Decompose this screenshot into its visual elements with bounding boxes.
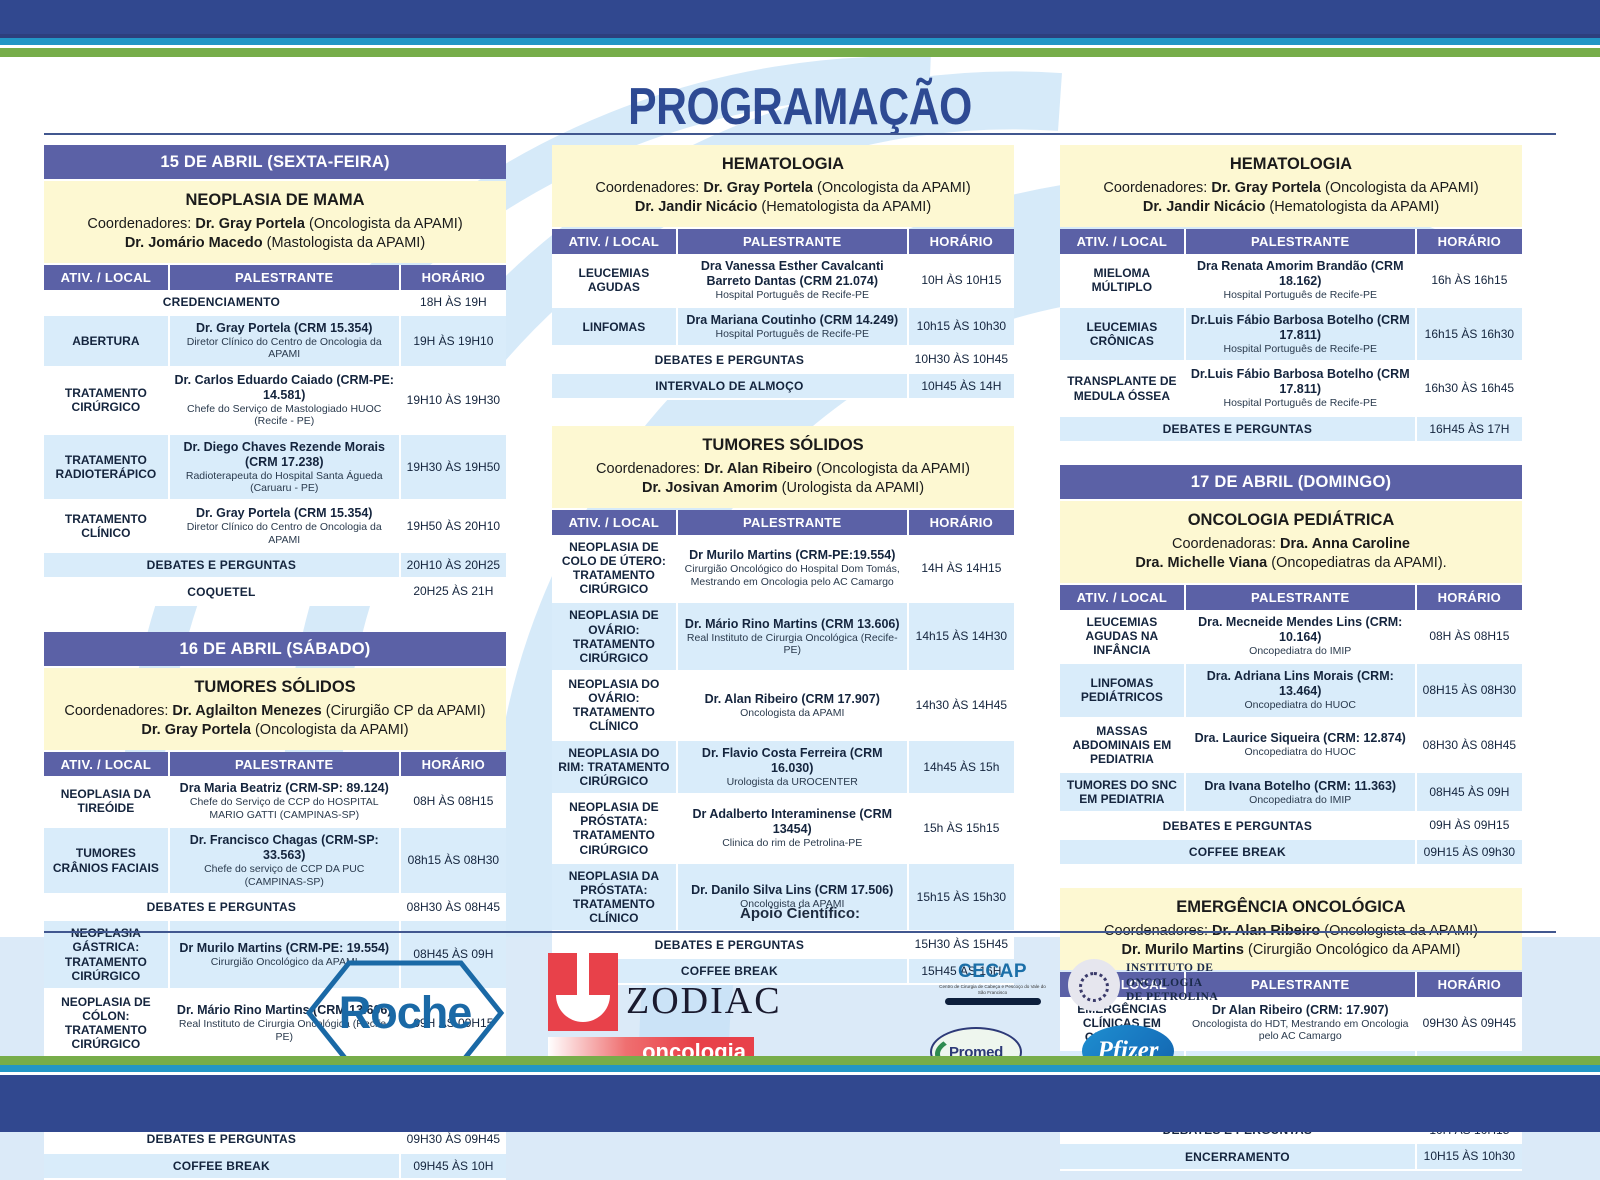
table-row: COFFEE BREAK09H45 ÀS 10H [44, 1153, 506, 1179]
speaker-name: Dr. Danilo Silva Lins (CRM 17.506) [682, 883, 903, 898]
coordinator-line-1: Coordenadores: Dr. Alan Ribeiro (Oncolog… [560, 460, 1006, 479]
table-row: DEBATES E PERGUNTAS09H ÀS 09H15 [1060, 812, 1522, 838]
coordinator-line-1: Coordenadores: Dr. Aglailton Menezes (Ci… [52, 702, 498, 721]
coordinator-role: (Hematologista da APAMI) [757, 199, 931, 215]
sponsor-roche-logo: Roche [305, 959, 505, 1067]
row-speaker: Dra Ivana Botelho (CRM: 11.363)Oncopedia… [1185, 772, 1416, 812]
speaker-affiliation: Chefe do serviço de CCP DA PUC (CAMPINAS… [174, 863, 395, 888]
row-activity: LINFOMAS [552, 307, 677, 346]
coordinator-name: Dr. Gray Portela [195, 216, 305, 232]
row-time: 10H45 ÀS 14H [908, 373, 1014, 399]
row-speaker: Dra Renata Amorim Brandão (CRM 18.162)Ho… [1185, 254, 1416, 307]
col-header-speaker: PALESTRANTE [1185, 229, 1416, 254]
brand-bar-green-bottom [0, 1056, 1600, 1065]
row-activity-full: INTERVALO DE ALMOÇO [552, 373, 908, 399]
row-time: 10H30 ÀS 10H45 [908, 346, 1014, 372]
block-apr17-pediatrica: 17 DE ABRIL (DOMINGO) ONCOLOGIA PEDIÁTRI… [1060, 465, 1522, 866]
col-header-speaker: PALESTRANTE [1185, 585, 1416, 610]
row-speaker: Dra. Adriana Lins Morais (CRM: 13.464)On… [1185, 663, 1416, 717]
row-time: 16h30 ÀS 16h45 [1416, 361, 1522, 415]
coordinator-line-2: Dr. Jandir Nicácio (Hematologista da APA… [560, 198, 1006, 217]
row-activity: TRATAMENTO RADIOTERÁPICO [44, 434, 169, 501]
table-header-row: ATIV. / LOCAL PALESTRANTE HORÁRIO [552, 229, 1014, 254]
table-row: TRATAMENTO RADIOTERÁPICODr. Diego Chaves… [44, 434, 506, 501]
row-activity: TRATAMENTO CIRÚRGICO [44, 367, 169, 434]
row-time: 14h45 ÀS 15h [908, 740, 1014, 794]
coordinator-role: (Mastologista da APAMI) [263, 235, 426, 251]
row-time: 08H15 ÀS 08H30 [1416, 663, 1522, 717]
table-row: NEOPLASIA DO OVÁRIO: TRATAMENTO CLÍNICOD… [552, 671, 1014, 740]
row-time: 16H45 ÀS 17H [1416, 416, 1522, 442]
row-activity: LEUCEMIAS AGUDAS [552, 254, 677, 307]
row-activity: NEOPLASIA DA TIREÓIDE [44, 776, 169, 827]
row-speaker: Dr. Carlos Eduardo Caiado (CRM-PE: 14.58… [169, 367, 400, 434]
cecap-underline-icon [945, 998, 1041, 1005]
sponsor-zodiac-label: ZODIAC [626, 979, 782, 1023]
coordinator-name: Dr. Josivan Amorim [642, 480, 778, 496]
speaker-name: Dr. Gray Portela (CRM 15.354) [174, 506, 395, 521]
row-time: 10H ÀS 10H15 [908, 254, 1014, 307]
row-speaker: Dra Maria Beatriz (CRM-SP: 89.124)Chefe … [169, 776, 400, 827]
row-speaker: Dra Vanessa Esther Cavalcanti Barreto Da… [677, 254, 908, 307]
speaker-affiliation: Hospital Português de Recife-PE [682, 289, 903, 301]
col-header-activity: ATIV. / LOCAL [44, 265, 169, 290]
row-activity: MASSAS ABDOMINAIS EM PEDIATRIA [1060, 718, 1185, 772]
coordinator-prefix: Coordenadores: [1103, 180, 1211, 196]
row-activity-full: CREDENCIAMENTO [44, 290, 400, 315]
coordinator-role: (Oncologista da APAMI) [813, 180, 971, 196]
row-activity: NEOPLASIA DO RIM: TRATAMENTO CIRÚRGICO [552, 740, 677, 794]
session-coordinators-hematologia-am: HEMATOLOGIA Coordenadores: Dr. Gray Port… [552, 145, 1014, 227]
speaker-name: Dr. Carlos Eduardo Caiado (CRM-PE: 14.58… [174, 373, 395, 403]
row-activity-full: ENCERRAMENTO [1060, 1143, 1416, 1169]
col-header-activity: ATIV. / LOCAL [1060, 229, 1185, 254]
speaker-affiliation: Hospital Português de Recife-PE [682, 328, 903, 340]
row-time: 08H30 ÀS 08H45 [1416, 718, 1522, 772]
row-time: 20H25 ÀS 21H [400, 578, 506, 604]
row-speaker: Dr.Luis Fábio Barbosa Botelho (CRM 17.81… [1185, 307, 1416, 361]
row-time: 09H45 ÀS 10H [400, 1153, 506, 1179]
poster-body: PROGRAMAÇÃO 15 DE ABRIL (SEXTA-FEIRA) NE… [0, 57, 1600, 1075]
row-time: 08H ÀS 08H15 [400, 776, 506, 827]
table-row: DEBATES E PERGUNTAS20H10 ÀS 20H25 [44, 552, 506, 578]
table-row: MIELOMA MÚLTIPLODra Renata Amorim Brandã… [1060, 254, 1522, 307]
table-row: NEOPLASIA DO RIM: TRATAMENTO CIRÚRGICODr… [552, 740, 1014, 794]
table-row: COQUETEL20H25 ÀS 21H [44, 578, 506, 604]
row-time: 14H ÀS 14H15 [908, 535, 1014, 603]
coordinator-line-2: Dr. Jomário Macedo (Mastologista da APAM… [52, 234, 498, 253]
row-time: 19H ÀS 19H10 [400, 315, 506, 367]
day-header-apr17: 17 DE ABRIL (DOMINGO) [1060, 465, 1522, 499]
row-activity-full: COFFEE BREAK [1060, 839, 1416, 865]
schedule-table-hematologia-pm: ATIV. / LOCAL PALESTRANTE HORÁRIO MIELOM… [1060, 229, 1522, 443]
session-title: HEMATOLOGIA [560, 154, 1006, 176]
apoio-cientifico-label: Apoio Científico: [0, 905, 1600, 922]
speaker-affiliation: Radioterapeuta do Hospital Santa Águeda … [174, 470, 395, 495]
col-header-activity: ATIV. / LOCAL [1060, 585, 1185, 610]
coordinator-name: Dr. Jandir Nicácio [635, 199, 758, 215]
col-header-time: HORÁRIO [1416, 585, 1522, 610]
col-header-time: HORÁRIO [400, 265, 506, 290]
speaker-affiliation: Cirurgião Oncológico do Hospital Dom Tom… [682, 563, 903, 588]
row-speaker: Dr Adalberto Interaminense (CRM 13454)Cl… [677, 794, 908, 863]
row-time: 18H ÀS 19H [400, 290, 506, 315]
col-header-speaker: PALESTRANTE [169, 752, 400, 777]
session-title: TUMORES SÓLIDOS [560, 435, 1006, 457]
speaker-affiliation: Chefe do Serviço de CCP do HOSPITAL MARI… [174, 796, 395, 821]
coordinator-name: Dr. Alan Ribeiro [704, 461, 812, 477]
table-header-row: ATIV. / LOCAL PALESTRANTE HORÁRIO [44, 265, 506, 290]
coordinator-name: Dr. Jandir Nicácio [1143, 199, 1266, 215]
col-header-time: HORÁRIO [400, 752, 506, 777]
speaker-affiliation: Oncopediatra do IMIP [1190, 794, 1411, 806]
coordinator-line-1: Coordenadoras: Dra. Anna Caroline [1068, 535, 1514, 554]
bottom-brand-bar [0, 1056, 1600, 1132]
row-time: 15h ÀS 15h15 [908, 794, 1014, 863]
speaker-affiliation: Oncopediatra do IMIP [1190, 645, 1411, 657]
table-row: TRATAMENTO CLÍNICODr. Gray Portela (CRM … [44, 500, 506, 552]
row-time: 10h15 ÀS 10h30 [908, 307, 1014, 346]
table-row: NEOPLASIA DE COLO DE ÚTERO: TRATAMENTO C… [552, 535, 1014, 603]
coordinator-line-1: Coordenadores: Dr. Gray Portela (Oncolog… [52, 215, 498, 234]
row-activity-full: DEBATES E PERGUNTAS [44, 552, 400, 578]
block-hematologia-am: HEMATOLOGIA Coordenadores: Dr. Gray Port… [552, 145, 1014, 400]
row-activity: ABERTURA [44, 315, 169, 367]
session-title: HEMATOLOGIA [1068, 154, 1514, 176]
sponsor-cecap-label: CECAP [935, 961, 1050, 983]
session-coordinators-apr15: NEOPLASIA DE MAMA Coordenadores: Dr. Gra… [44, 181, 506, 263]
footer-divider [44, 931, 1556, 933]
table-header-row: ATIV. / LOCAL PALESTRANTE HORÁRIO [552, 510, 1014, 535]
row-speaker: Dr Murilo Martins (CRM-PE:19.554)Cirurgi… [677, 535, 908, 603]
row-time: 08H45 ÀS 09H [1416, 772, 1522, 812]
coordinator-role: (Hematologista da APAMI) [1265, 199, 1439, 215]
row-activity: NEOPLASIA DE PRÓSTATA: TRATAMENTO CIRÚRG… [552, 794, 677, 863]
speaker-name: Dra Maria Beatriz (CRM-SP: 89.124) [174, 781, 395, 796]
table-row: TUMORES DO SNC EM PEDIATRIADra Ivana Bot… [1060, 772, 1522, 812]
coordinator-role: (Oncologista da APAMI) [1321, 180, 1479, 196]
row-activity-full: COQUETEL [44, 578, 400, 604]
coordinator-line-1: Coordenadores: Dr. Gray Portela (Oncolog… [560, 179, 1006, 198]
sponsor-cecap-sub: Centro de Cirurgia de Cabeça e Pescoço d… [935, 984, 1050, 995]
row-activity: LEUCEMIAS CRÔNICAS [1060, 307, 1185, 361]
table-row: NEOPLASIA DE PRÓSTATA: TRATAMENTO CIRÚRG… [552, 794, 1014, 863]
speaker-name: Dra. Adriana Lins Morais (CRM: 13.464) [1190, 669, 1411, 699]
col-header-activity: ATIV. / LOCAL [552, 229, 677, 254]
row-speaker: Dr.Luis Fábio Barbosa Botelho (CRM 17.81… [1185, 361, 1416, 415]
coordinator-role: (Urologista da APAMI) [778, 480, 924, 496]
day-header-apr16: 16 DE ABRIL (SÁBADO) [44, 632, 506, 666]
coordinator-name: Dra. Michelle Viana [1135, 555, 1267, 571]
row-time: 16h ÀS 16h15 [1416, 254, 1522, 307]
col-header-time: HORÁRIO [908, 510, 1014, 535]
coordinator-name: Dr. Gray Portela [1211, 180, 1321, 196]
row-activity-full: DEBATES E PERGUNTAS [1060, 416, 1416, 442]
iop-line-3: DE PETROLINA [1126, 990, 1218, 1005]
table-row: LEUCEMIAS AGUDAS NA INFÂNCIADra. Mecneid… [1060, 610, 1522, 663]
col-header-activity: ATIV. / LOCAL [44, 752, 169, 777]
table-header-row: ATIV. / LOCAL PALESTRANTE HORÁRIO [1060, 229, 1522, 254]
col-header-time: HORÁRIO [908, 229, 1014, 254]
session-coordinators-tumores-pm: TUMORES SÓLIDOS Coordenadores: Dr. Alan … [552, 426, 1014, 508]
row-time: 14h15 ÀS 14H30 [908, 602, 1014, 671]
speaker-name: Dra. Mecneide Mendes Lins (CRM: 10.164) [1190, 615, 1411, 645]
speaker-affiliation: Real Instituto de Cirurgia Oncológica (R… [682, 632, 903, 657]
row-speaker: Dr. Gray Portela (CRM 15.354)Diretor Clí… [169, 500, 400, 552]
speaker-name: Dr.Luis Fábio Barbosa Botelho (CRM 17.81… [1190, 367, 1411, 397]
speaker-affiliation: Clinica do rim de Petrolina-PE [682, 837, 903, 849]
table-row: NEOPLASIA DA TIREÓIDEDra Maria Beatriz (… [44, 776, 506, 827]
speaker-name: Dr. Diego Chaves Rezende Morais (CRM 17.… [174, 440, 395, 470]
speaker-name: Dra Vanessa Esther Cavalcanti Barreto Da… [682, 259, 903, 289]
coordinator-role: (Oncologista da APAMI) [305, 216, 463, 232]
coordinator-prefix: Coordenadores: [64, 703, 172, 719]
row-speaker: Dra. Mecneide Mendes Lins (CRM: 10.164)O… [1185, 610, 1416, 663]
table-row: DEBATES E PERGUNTAS16H45 ÀS 17H [1060, 416, 1522, 442]
brand-bar-teal-bottom [0, 1065, 1600, 1072]
row-speaker: Dra Mariana Coutinho (CRM 14.249)Hospita… [677, 307, 908, 346]
speaker-name: Dra. Laurice Siqueira (CRM: 12.874) [1190, 731, 1411, 746]
row-time: 09H ÀS 09H15 [1416, 812, 1522, 838]
iop-inner-ring-icon [1079, 972, 1109, 1002]
table-row: DEBATES E PERGUNTAS10H30 ÀS 10H45 [552, 346, 1014, 372]
coordinator-role: (Oncopediatras da APAMI). [1267, 555, 1446, 571]
coordinator-line-2: Dr. Jandir Nicácio (Hematologista da APA… [1068, 198, 1514, 217]
table-header-row: ATIV. / LOCAL PALESTRANTE HORÁRIO [1060, 585, 1522, 610]
row-time: 20H10 ÀS 20H25 [400, 552, 506, 578]
row-time: 09H15 ÀS 09h30 [1416, 839, 1522, 865]
row-activity-full: DEBATES E PERGUNTAS [1060, 812, 1416, 838]
table-row: TRATAMENTO CIRÚRGICODr. Carlos Eduardo C… [44, 367, 506, 434]
coordinator-line-2: Dr. Josivan Amorim (Urologista da APAMI) [560, 479, 1006, 498]
row-activity: TUMORES CRÂNIOS FACIAIS [44, 827, 169, 894]
session-title: ONCOLOGIA PEDIÁTRICA [1068, 510, 1514, 532]
speaker-name: Dr. Mário Rino Martins (CRM 13.606) [682, 617, 903, 632]
schedule-table-apr15: ATIV. / LOCAL PALESTRANTE HORÁRIO CREDEN… [44, 265, 506, 606]
coordinator-name: Dr. Aglailton Menezes [172, 703, 321, 719]
table-row: MASSAS ABDOMINAIS EM PEDIATRIADra. Lauri… [1060, 718, 1522, 772]
speaker-affiliation: Diretor Clínico do Centro de Oncologia d… [174, 521, 395, 546]
speaker-name: Dra Ivana Botelho (CRM: 11.363) [1190, 779, 1411, 794]
row-activity: TRATAMENTO CLÍNICO [44, 500, 169, 552]
row-activity: NEOPLASIA DO OVÁRIO: TRATAMENTO CLÍNICO [552, 671, 677, 740]
row-time: 16h15 ÀS 16h30 [1416, 307, 1522, 361]
table-row: LINFOMASDra Mariana Coutinho (CRM 14.249… [552, 307, 1014, 346]
coordinator-prefix: Coordenadores: [87, 216, 195, 232]
block-apr15: 15 DE ABRIL (SEXTA-FEIRA) NEOPLASIA DE M… [44, 145, 506, 606]
speaker-name: Dra Renata Amorim Brandão (CRM 18.162) [1190, 259, 1411, 289]
coordinator-name: Dr. Gray Portela [703, 180, 813, 196]
row-activity-full: COFFEE BREAK [44, 1153, 400, 1179]
speaker-name: Dra Mariana Coutinho (CRM 14.249) [682, 313, 903, 328]
coordinator-prefix: Coordenadoras: [1172, 536, 1280, 552]
brand-bar-navy-bottom [0, 1075, 1600, 1132]
table-row: TRANSPLANTE DE MEDULA ÓSSEADr.Luis Fábio… [1060, 361, 1522, 415]
col-header-activity: ATIV. / LOCAL [552, 510, 677, 535]
coordinator-line-1: Coordenadores: Dr. Gray Portela (Oncolog… [1068, 179, 1514, 198]
row-time: 19H50 ÀS 20H10 [400, 500, 506, 552]
coordinator-name: Dr. Jomário Macedo [125, 235, 263, 251]
session-title: TUMORES SÓLIDOS [52, 677, 498, 699]
block-hematologia-pm: HEMATOLOGIA Coordenadores: Dr. Gray Port… [1060, 145, 1522, 443]
speaker-name: Dr. Gray Portela (CRM 15.354) [174, 321, 395, 336]
brand-bar-green [0, 48, 1600, 57]
row-activity-full: DEBATES E PERGUNTAS [552, 346, 908, 372]
speaker-affiliation: Oncologista da APAMI [682, 707, 903, 719]
row-activity: NEOPLASIA DE OVÁRIO: TRATAMENTO CIRÚRGIC… [552, 602, 677, 671]
top-brand-bar [0, 0, 1600, 57]
row-activity: NEOPLASIA DE COLO DE ÚTERO: TRATAMENTO C… [552, 535, 677, 603]
sponsor-instituto-oncologia-logo: INSTITUTO DE ONCOLOGIA DE PETROLINA [1068, 957, 1248, 1017]
brand-bar-navy [0, 0, 1600, 34]
iop-line-1: INSTITUTO DE [1126, 961, 1218, 976]
table-row: LEUCEMIAS AGUDASDra Vanessa Esther Caval… [552, 254, 1014, 307]
col-header-speaker: PALESTRANTE [169, 265, 400, 290]
coordinator-role: (Oncologista da APAMI) [251, 722, 409, 738]
coordinator-prefix: Coordenadores: [595, 180, 703, 196]
speaker-affiliation: Oncopediatra do HUOC [1190, 746, 1411, 758]
sponsor-cecap-logo: CECAP Centro de Cirurgia de Cabeça e Pes… [935, 961, 1050, 1005]
session-coordinators-hematologia-pm: HEMATOLOGIA Coordenadores: Dr. Gray Port… [1060, 145, 1522, 227]
speaker-name: Dr Murilo Martins (CRM-PE:19.554) [682, 548, 903, 563]
coordinator-role: (Oncologista da APAMI) [812, 461, 970, 477]
row-time: 19H10 ÀS 19H30 [400, 367, 506, 434]
row-activity: TUMORES DO SNC EM PEDIATRIA [1060, 772, 1185, 812]
speaker-affiliation: Diretor Clínico do Centro de Oncologia d… [174, 336, 395, 361]
speaker-name: Dr Adalberto Interaminense (CRM 13454) [682, 807, 903, 837]
iop-ring-icon [1068, 959, 1120, 1011]
iop-line-2: ONCOLOGIA [1126, 976, 1218, 991]
day-header-apr15: 15 DE ABRIL (SEXTA-FEIRA) [44, 145, 506, 179]
speaker-affiliation: Hospital Português de Recife-PE [1190, 343, 1411, 355]
coordinator-name: Dra. Anna Caroline [1280, 536, 1410, 552]
col-header-speaker: PALESTRANTE [677, 229, 908, 254]
row-activity: LINFOMAS PEDIÁTRICOS [1060, 663, 1185, 717]
page-title: PROGRAMAÇÃO [144, 77, 1456, 137]
sponsor-roche-label: Roche [305, 959, 505, 1067]
row-time: 14h30 ÀS 14H45 [908, 671, 1014, 740]
table-row: TUMORES CRÂNIOS FACIAISDr. Francisco Cha… [44, 827, 506, 894]
schedule-table-pediatrica: ATIV. / LOCAL PALESTRANTE HORÁRIO LEUCEM… [1060, 585, 1522, 866]
row-activity: LEUCEMIAS AGUDAS NA INFÂNCIA [1060, 610, 1185, 663]
speaker-name: Dr. Francisco Chagas (CRM-SP: 33.563) [174, 833, 395, 863]
table-header-row: ATIV. / LOCAL PALESTRANTE HORÁRIO [44, 752, 506, 777]
row-activity: TRANSPLANTE DE MEDULA ÓSSEA [1060, 361, 1185, 415]
coordinator-prefix: Coordenadores: [596, 461, 704, 477]
table-row: INTERVALO DE ALMOÇO10H45 ÀS 14H [552, 373, 1014, 399]
table-row: COFFEE BREAK09H15 ÀS 09h30 [1060, 839, 1522, 865]
table-row: NEOPLASIA DE OVÁRIO: TRATAMENTO CIRÚRGIC… [552, 602, 1014, 671]
coordinator-name: Dr. Gray Portela [141, 722, 251, 738]
row-speaker: Dra. Laurice Siqueira (CRM: 12.874)Oncop… [1185, 718, 1416, 772]
row-time: 19H30 ÀS 19H50 [400, 434, 506, 501]
row-speaker: Dr. Alan Ribeiro (CRM 17.907)Oncologista… [677, 671, 908, 740]
table-row: LINFOMAS PEDIÁTRICOSDra. Adriana Lins Mo… [1060, 663, 1522, 717]
speaker-affiliation: Urologista da UROCENTER [682, 776, 903, 788]
speaker-name: Dr. Alan Ribeiro (CRM 17.907) [682, 692, 903, 707]
block-tumores-solidos-pm: TUMORES SÓLIDOS Coordenadores: Dr. Alan … [552, 426, 1014, 985]
speaker-affiliation: Oncopediatra do HUOC [1190, 699, 1411, 711]
row-time: 08h15 ÀS 08H30 [400, 827, 506, 894]
session-coordinators-apr16: TUMORES SÓLIDOS Coordenadores: Dr. Aglai… [44, 668, 506, 750]
row-speaker: Dr. Flavio Costa Ferreira (CRM 16.030)Ur… [677, 740, 908, 794]
session-title: NEOPLASIA DE MAMA [52, 190, 498, 212]
row-time: 08H ÀS 08H15 [1416, 610, 1522, 663]
coordinator-line-2: Dr. Gray Portela (Oncologista da APAMI) [52, 721, 498, 740]
table-row: LEUCEMIAS CRÔNICASDr.Luis Fábio Barbosa … [1060, 307, 1522, 361]
sponsor-iop-label: INSTITUTO DE ONCOLOGIA DE PETROLINA [1126, 961, 1218, 1005]
speaker-affiliation: Hospital Português de Recife-PE [1190, 397, 1411, 409]
coordinator-line-2: Dra. Michelle Viana (Oncopediatras da AP… [1068, 554, 1514, 573]
row-time: 10H15 ÀS 10h30 [1416, 1143, 1522, 1169]
brand-bar-teal [0, 38, 1600, 45]
col-header-speaker: PALESTRANTE [677, 510, 908, 535]
row-speaker: Dr. Diego Chaves Rezende Morais (CRM 17.… [169, 434, 400, 501]
row-activity: MIELOMA MÚLTIPLO [1060, 254, 1185, 307]
schedule-table-hematologia-am: ATIV. / LOCAL PALESTRANTE HORÁRIO LEUCEM… [552, 229, 1014, 400]
speaker-name: Dr.Luis Fábio Barbosa Botelho (CRM 17.81… [1190, 313, 1411, 343]
speaker-affiliation: Hospital Português de Recife-PE [1190, 289, 1411, 301]
row-speaker: Dr. Francisco Chagas (CRM-SP: 33.563)Che… [169, 827, 400, 894]
table-row: ABERTURADr. Gray Portela (CRM 15.354)Dir… [44, 315, 506, 367]
table-row: CREDENCIAMENTO18H ÀS 19H [44, 290, 506, 315]
session-coordinators-pediatrica: ONCOLOGIA PEDIÁTRICA Coordenadoras: Dra.… [1060, 501, 1522, 583]
row-speaker: Dr. Mário Rino Martins (CRM 13.606)Real … [677, 602, 908, 671]
row-speaker: Dr. Gray Portela (CRM 15.354)Diretor Clí… [169, 315, 400, 367]
table-row: ENCERRAMENTO10H15 ÀS 10h30 [1060, 1143, 1522, 1169]
col-header-time: HORÁRIO [1416, 229, 1522, 254]
speaker-name: Dr. Flavio Costa Ferreira (CRM 16.030) [682, 746, 903, 776]
speaker-affiliation: Chefe do Serviço de Mastologiado HUOC (R… [174, 403, 395, 428]
title-divider-top [44, 133, 1556, 135]
coordinator-role: (Cirurgião CP da APAMI) [322, 703, 486, 719]
